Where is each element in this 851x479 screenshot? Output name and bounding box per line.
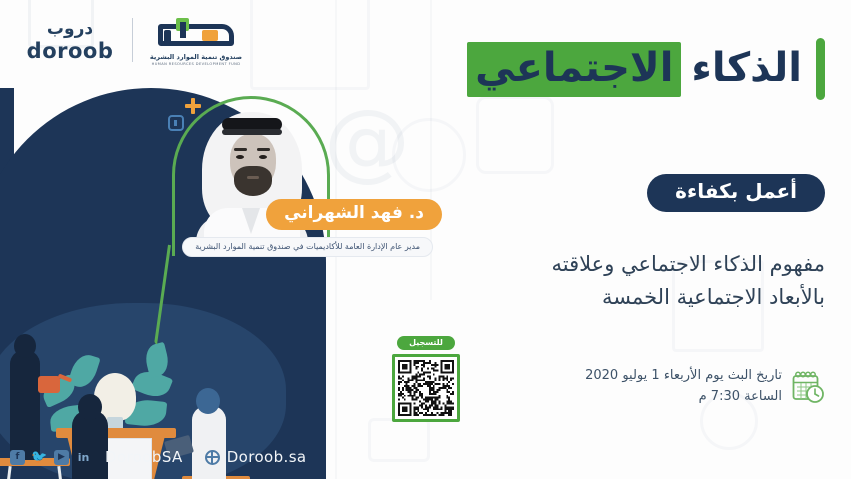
schedule-date: تاريخ البث يوم الأربعاء 1 يوليو 2020 [585,366,782,387]
schedule-text: تاريخ البث يوم الأربعاء 1 يوليو 2020 الس… [585,366,782,408]
square-decoration-icon [168,115,184,131]
poster-title: الذكاء الاجتماعي [467,38,825,100]
calendar-clock-icon [791,370,825,404]
watermark-rect-3 [476,96,554,174]
website-url: Doroob.sa [227,448,307,466]
hrdf-logo: صندوق تنمية الموارد البشرية HUMAN RESOUR… [146,14,246,70]
title-accent-bar [816,38,825,100]
qr-code-canvas [398,360,454,416]
webinar-poster: @ دروب doroob صندوق تنمية الموارد البشري… [0,0,851,479]
speaker-role-badge: مدير عام الإدارة العامة للأكاديميات في ص… [182,237,433,257]
program-pill: أعمل بكفاءة [647,174,825,212]
portrait-brow-right [257,148,270,151]
portrait-beard [234,166,272,196]
portrait-eye-right [259,155,267,159]
doroob-logo-arabic: دروب [47,21,93,38]
qr-code-icon[interactable] [392,354,460,422]
subtitle-line-2: بالأبعاد الاجتماعية الخمسة [401,281,825,314]
youtube-icon[interactable]: ▶ [54,450,69,465]
globe-icon [205,450,220,465]
title-word-2-highlight: الاجتماعي [467,42,681,97]
logo-divider [132,18,133,62]
person-right-head [196,388,220,414]
facebook-icon[interactable]: f [10,450,25,465]
hrdf-logo-mark [150,18,242,52]
linkedin-icon[interactable]: in [76,450,91,465]
person-left-head [14,334,36,358]
doroob-logo-latin: doroob [27,40,114,63]
watermark-rect-2 [250,0,370,90]
watermark-rect-4 [368,418,430,462]
hrdf-logo-latin: HUMAN RESOURCES DEVELOPMENT FUND [152,62,241,66]
portrait-brow-left [234,148,247,151]
title-text: الذكاء الاجتماعي [467,42,802,97]
social-handle: DoroobSA [105,448,183,466]
subtitle-line-1: مفهوم الذكاء الاجتماعي وعلاقته [552,252,826,276]
portrait-mouth [247,176,259,179]
twitter-icon[interactable]: 🐦 [32,450,47,465]
broadcast-schedule: تاريخ البث يوم الأربعاء 1 يوليو 2020 الس… [585,366,825,408]
watering-can [38,376,60,393]
hrdf-logo-arabic: صندوق تنمية الموارد البشرية [150,53,242,61]
title-word-1: الذكاء [691,43,802,93]
schedule-time: الساعة 7:30 م [585,387,782,408]
registration-qr[interactable]: للتسجيل [382,336,470,422]
portrait-iqal-lower [222,129,282,135]
qr-label: للتسجيل [397,336,455,350]
poster-subtitle: مفهوم الذكاء الاجتماعي وعلاقته بالأبعاد … [401,248,825,313]
speaker-name-badge: د. فهد الشهراني [266,199,442,230]
footer-bar: f 🐦 ▶ in DoroobSA Doroob.sa [0,435,326,479]
doroob-logo: دروب doroob [14,16,126,68]
person-center-head [78,394,102,420]
portrait-eye-left [236,155,244,159]
watermark-circle-1 [392,118,466,192]
speaker-portrait [196,104,308,256]
